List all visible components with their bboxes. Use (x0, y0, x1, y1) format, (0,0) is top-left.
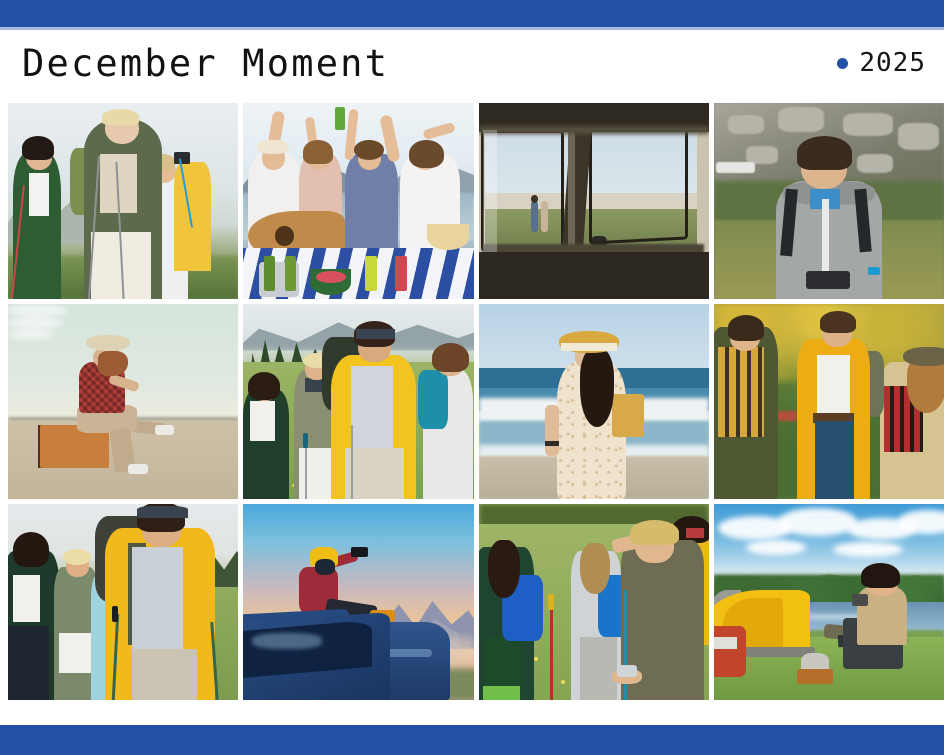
photo-cell-11[interactable]: Hikers with blue backpacks crossing a gr… (479, 504, 709, 700)
photo-cell-7[interactable]: Woman in a straw hat and floral dress fa… (479, 304, 709, 500)
photo-cell-8[interactable]: Backpackers in an autumn forest, man in … (714, 304, 944, 500)
year-badge: 2025 (837, 50, 930, 76)
photo-cell-12[interactable]: Yellow dome tent by a lake with a man re… (714, 504, 944, 700)
top-brand-bar (0, 0, 944, 27)
photo-cell-9[interactable]: Hikers with large backpacks on an overca… (8, 504, 238, 700)
photo-cell-2[interactable]: Friends cheering with raised arms at a s… (243, 103, 473, 299)
photo-cell-3[interactable]: View through a camper van window of a co… (479, 103, 709, 299)
photo-cell-5[interactable]: Woman in a straw hat sitting on a vintag… (8, 304, 238, 500)
photo-cell-10[interactable]: Traveller in a yellow beanie sitting on … (243, 504, 473, 700)
photo-cell-1[interactable]: Group of hikers with trekking poles smil… (8, 103, 238, 299)
photo-cell-6[interactable]: Four hikers walking through a green alpi… (243, 304, 473, 500)
bottom-brand-bar (0, 725, 944, 755)
photo-cell-4[interactable]: Man in a grey hoodie holding a drone con… (714, 103, 944, 299)
bullet-dot-icon (837, 58, 848, 69)
poster-header: December Moment 2025 (0, 30, 944, 96)
poster-page: December Moment 2025 Group of hikers wit… (0, 0, 944, 755)
photo-grid: Group of hikers with trekking poles smil… (8, 103, 944, 700)
page-title: December Moment (22, 45, 389, 82)
year-label: 2025 (859, 50, 926, 76)
